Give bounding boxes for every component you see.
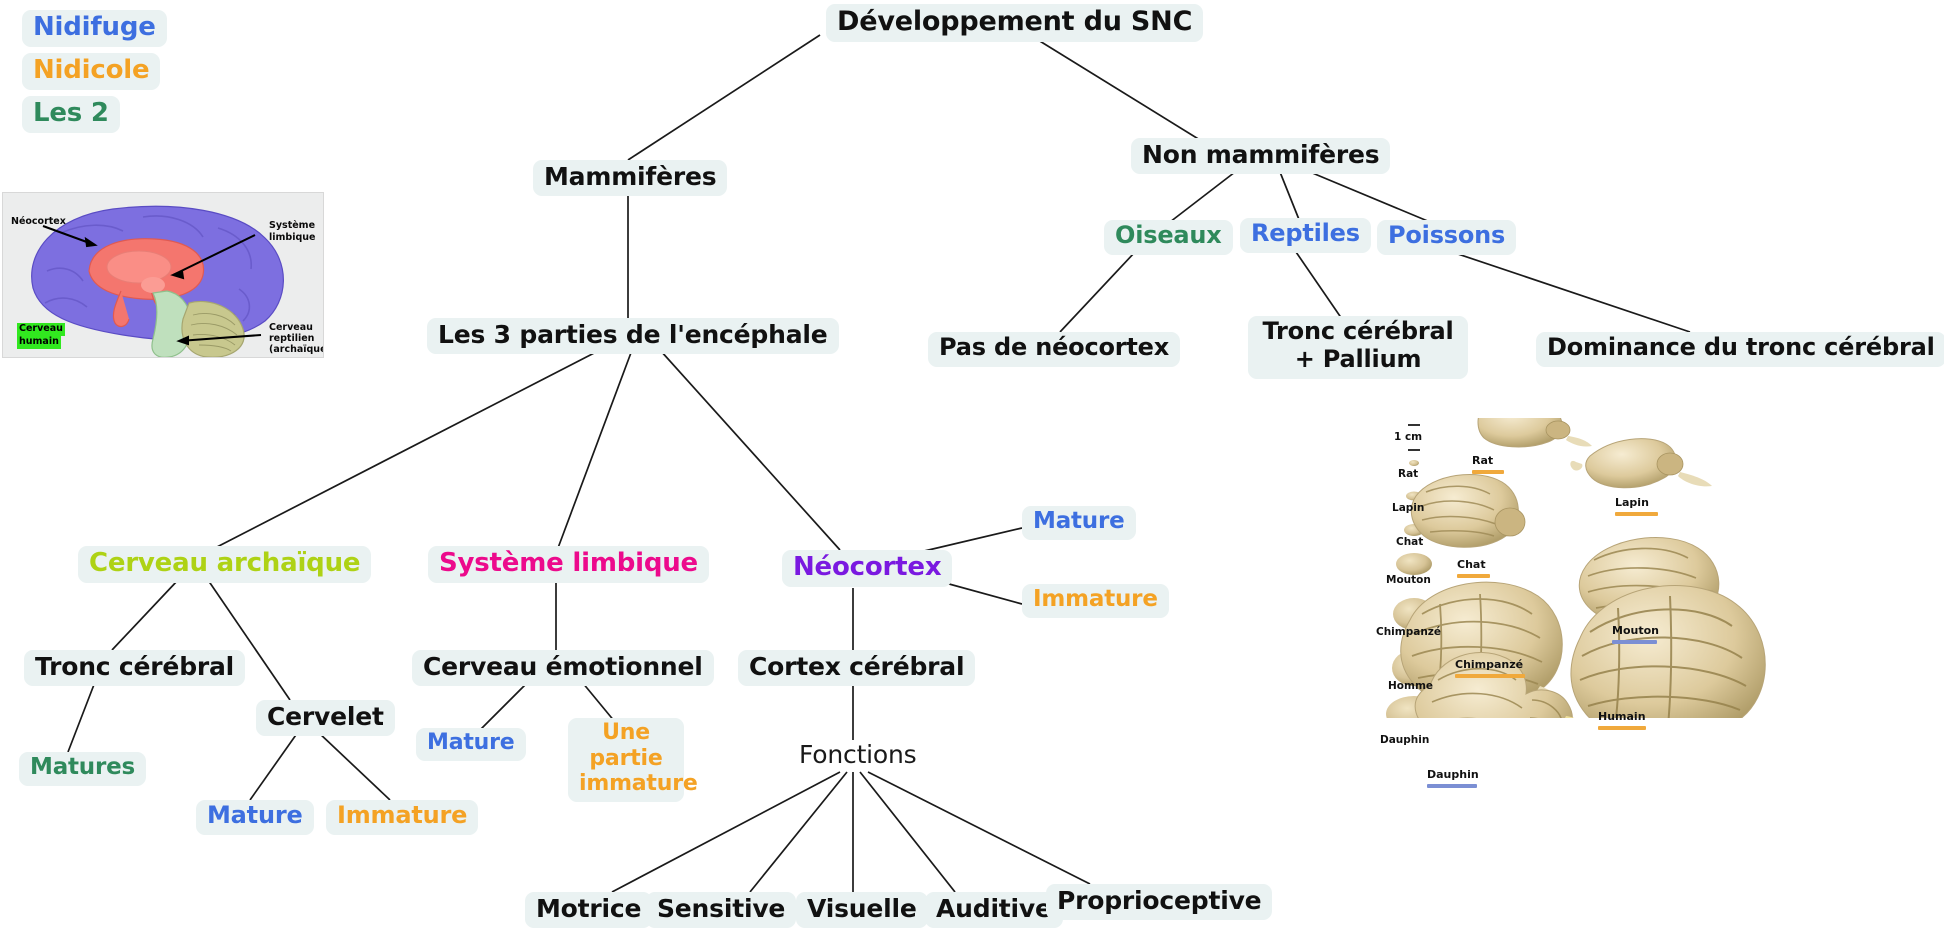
brainfig-label-human-line2: humain <box>17 336 61 349</box>
cmp-underline-dauphin <box>1427 784 1477 788</box>
legend-item-nidifuge[interactable]: Nidifuge <box>22 10 167 47</box>
cmp-label-lapin: Lapin <box>1615 496 1649 509</box>
cmp-label-humain: Humain <box>1598 710 1646 723</box>
node-neocortex-mature[interactable]: Mature <box>1022 506 1136 540</box>
scale-col-label-chimpanze: Chimpanzé <box>1376 626 1441 638</box>
legend: Nidifuge Nidicole Les 2 <box>22 10 167 139</box>
node-tronc-pallium-line2: + Pallium <box>1295 345 1422 373</box>
cmp-label-chat: Chat <box>1457 558 1486 571</box>
node-tronc-cerebral[interactable]: Tronc cérébral <box>24 650 245 686</box>
scale-col-label-homme: Homme <box>1388 680 1433 692</box>
cmp-underline-mouton <box>1612 640 1657 644</box>
node-dominance-tronc[interactable]: Dominance du tronc cérébral <box>1536 332 1944 367</box>
node-systeme-limbique[interactable]: Système limbique <box>428 546 709 583</box>
edge-nm-oiseaux <box>1170 172 1235 222</box>
brainfig-label-reptilian-line3: (archaïque) <box>269 345 324 356</box>
node-cervelet-immature[interactable]: Immature <box>326 800 478 835</box>
edge-nm-reptiles <box>1280 172 1300 222</box>
cmp-label-mouton: Mouton <box>1612 624 1659 637</box>
node-tronc-pallium-line1: Tronc cérébral <box>1263 317 1454 345</box>
node-fonctions[interactable]: Fonctions <box>788 738 928 774</box>
scale-col-label-lapin: Lapin <box>1392 502 1424 514</box>
node-sensitive[interactable]: Sensitive <box>646 892 796 928</box>
node-reptiles[interactable]: Reptiles <box>1240 218 1371 253</box>
legend-item-les2[interactable]: Les 2 <box>22 96 120 133</box>
node-root[interactable]: Développement du SNC <box>826 4 1203 42</box>
scale-col-label-chat: Chat <box>1396 536 1423 548</box>
node-mammiferes[interactable]: Mammifères <box>533 160 727 196</box>
legend-item-nidicole[interactable]: Nidicole <box>22 53 160 90</box>
node-motrice[interactable]: Motrice <box>525 892 652 928</box>
edge-3parties-limbique <box>558 350 632 548</box>
node-neocortex-immature[interactable]: Immature <box>1022 584 1169 618</box>
node-emotionnel-immature-line1: Une partie <box>589 720 662 771</box>
node-visuelle[interactable]: Visuelle <box>796 892 928 928</box>
edge-cervelet-mature <box>250 732 298 800</box>
cmp-underline-chimpanze <box>1455 674 1525 678</box>
edge-3parties-neocortex <box>660 350 840 550</box>
node-pas-de-neocortex[interactable]: Pas de néocortex <box>928 332 1180 367</box>
node-neocortex[interactable]: Néocortex <box>782 550 952 587</box>
edge-tronc-matures <box>68 682 95 752</box>
edge-nm-poissons <box>1310 172 1430 222</box>
node-proprioceptive[interactable]: Proprioceptive <box>1046 884 1272 920</box>
human-brain-diagram: Néocortex Système limbique Cerveau repti… <box>2 192 324 358</box>
comparative-brain-sizes-figure: 1 cm <box>1380 418 1940 718</box>
cmp-label-chimpanze: Chimpanzé <box>1455 658 1523 671</box>
edge-archaique-tronc <box>112 580 178 650</box>
node-matures[interactable]: Matures <box>19 752 146 786</box>
edge-oiseaux-pasneo <box>1060 252 1135 332</box>
scale-col-label-mouton: Mouton <box>1386 574 1431 586</box>
node-oiseaux[interactable]: Oiseaux <box>1104 220 1233 255</box>
edge-fonctions-auditive <box>860 772 955 892</box>
edge-fonctions-proprio <box>868 772 1090 884</box>
node-cortex-cerebral[interactable]: Cortex cérébral <box>738 650 975 686</box>
node-emotionnel-mature[interactable]: Mature <box>416 728 526 761</box>
cmp-underline-chat <box>1457 574 1490 578</box>
cmp-label-rat: Rat <box>1472 454 1493 467</box>
scale-col-label-rat: Rat <box>1398 468 1418 480</box>
node-tronc-pallium[interactable]: Tronc cérébral + Pallium <box>1248 316 1468 379</box>
node-cerveau-archaique[interactable]: Cerveau archaïque <box>78 546 371 583</box>
node-trois-parties[interactable]: Les 3 parties de l'encéphale <box>427 318 839 354</box>
node-cervelet[interactable]: Cervelet <box>256 700 395 736</box>
brainfig-label-human-line1: Cerveau <box>17 323 65 336</box>
cmp-underline-rat <box>1472 470 1504 474</box>
mindmap-canvas: Nidifuge Nidicole Les 2 <box>0 0 1944 932</box>
brainfig-label-limbic-line1: Système <box>269 221 315 232</box>
edge-emotionnel-mature <box>478 682 528 732</box>
cmp-underline-lapin <box>1615 512 1658 516</box>
edge-neocortex-mature <box>920 528 1022 552</box>
edge-root-nonmammiferes <box>1030 35 1200 140</box>
scale-col-label-dauphin: Dauphin <box>1380 734 1429 746</box>
brainfig-label-limbic-line2: limbique <box>269 233 315 244</box>
node-emotionnel-immature[interactable]: Une partie immature <box>568 718 684 802</box>
cmp-underline-humain <box>1598 726 1646 730</box>
brainfig-label-neocortex: Néocortex <box>11 217 66 228</box>
node-poissons[interactable]: Poissons <box>1377 220 1516 255</box>
node-non-mammiferes[interactable]: Non mammifères <box>1131 138 1390 174</box>
node-auditive[interactable]: Auditive <box>925 892 1063 928</box>
edge-root-mammiferes <box>628 35 820 160</box>
cmp-label-dauphin: Dauphin <box>1427 768 1479 781</box>
node-cerveau-emotionnel[interactable]: Cerveau émotionnel <box>412 650 714 686</box>
edge-3parties-archaique <box>215 350 600 548</box>
edge-fonctions-sensitive <box>750 772 847 892</box>
edge-cervelet-immature <box>318 732 390 800</box>
edge-poissons-dominance <box>1452 252 1690 332</box>
node-emotionnel-immature-line2: immature <box>579 771 698 796</box>
node-cervelet-mature[interactable]: Mature <box>196 800 314 835</box>
